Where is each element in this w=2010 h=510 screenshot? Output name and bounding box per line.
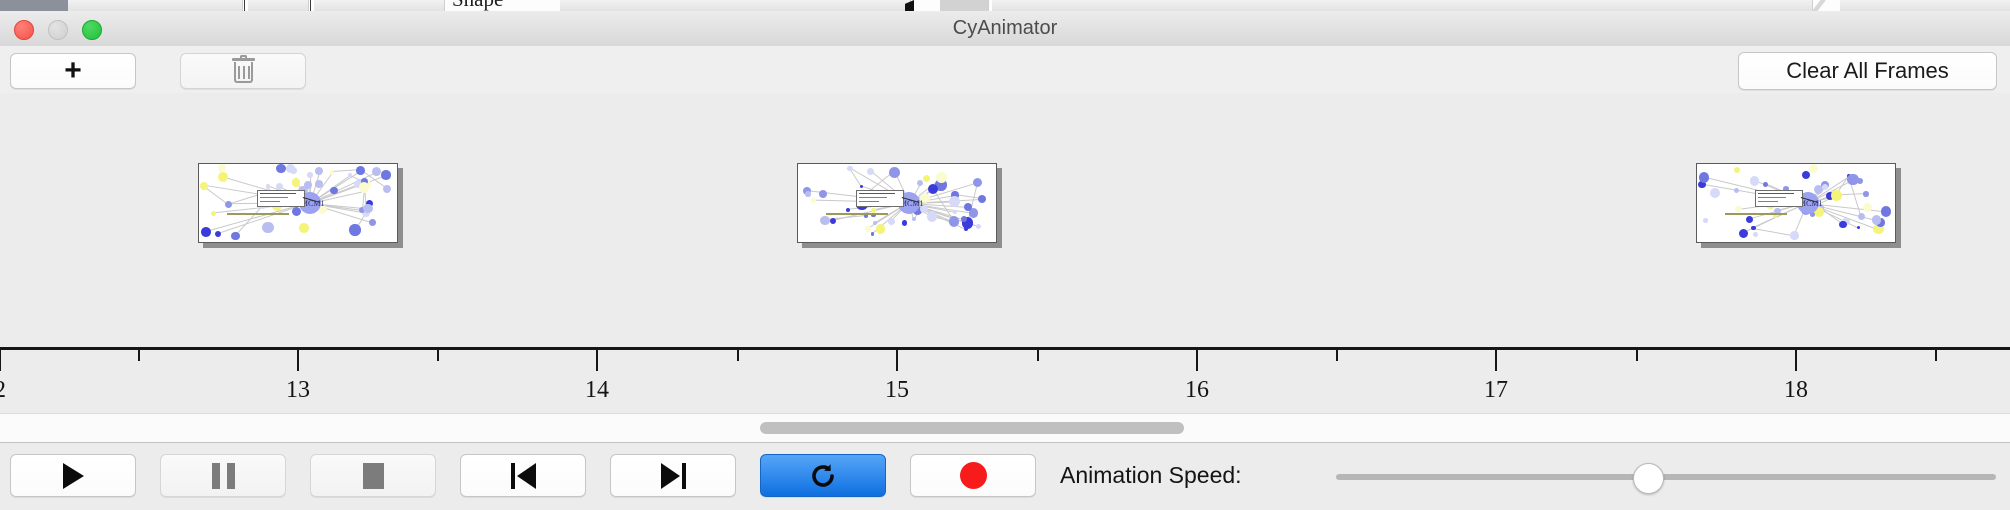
network-node [978, 195, 986, 203]
network-node [201, 227, 211, 237]
record-button[interactable] [910, 454, 1036, 497]
network-node [976, 224, 981, 229]
network-node [860, 185, 863, 188]
network-node [218, 164, 226, 172]
network-node [330, 170, 334, 174]
background-window-seg [314, 0, 445, 11]
network-node [315, 180, 323, 188]
animation-speed-label: Animation Speed: [1060, 454, 1242, 497]
network-tooltip-line [859, 201, 879, 202]
loop-button[interactable] [760, 454, 886, 497]
network-node [381, 170, 390, 179]
background-window-seg [560, 0, 911, 11]
network-node [927, 211, 938, 222]
frame-network-preview: MCM1 [1696, 163, 1896, 243]
network-node [1863, 203, 1872, 212]
background-window-seg [1840, 0, 2010, 11]
timeline-tick-label: 15 [857, 377, 937, 404]
delete-frame-button[interactable] [180, 53, 306, 89]
network-node [1746, 216, 1753, 223]
network-tooltip-line [1758, 193, 1794, 194]
background-window-label: Shape [452, 0, 503, 11]
network-node [225, 201, 232, 208]
network-node [912, 217, 917, 222]
network-tooltip-line [859, 193, 895, 194]
network-node [1734, 188, 1739, 193]
network-node [819, 190, 827, 198]
network-node [871, 232, 874, 235]
network-node [356, 166, 365, 175]
skip-back-icon [511, 463, 536, 489]
skip-forward-icon [661, 463, 686, 489]
network-node [215, 231, 221, 237]
network-node [820, 216, 829, 225]
network-node [292, 178, 301, 187]
timeline-tick-major [1495, 350, 1497, 371]
network-tooltip-line [260, 201, 280, 202]
background-window-seg [992, 0, 1813, 11]
network-node [949, 196, 960, 207]
timeline-tick-label: 14 [557, 377, 637, 404]
timeline-scrollbar-thumb[interactable] [760, 422, 1184, 434]
timeline-tick-major [0, 350, 1, 371]
timeline-tick-major [1196, 350, 1198, 371]
network-caption [1725, 213, 1787, 215]
frame-thumbnail[interactable]: MCM1 [1696, 163, 1896, 243]
network-node [200, 182, 208, 190]
network-node [889, 167, 900, 178]
next-frame-button[interactable] [610, 454, 736, 497]
network-tooltip-line [1758, 197, 1786, 198]
network-node [349, 224, 361, 236]
timeline-tick-label: 2 [0, 377, 40, 404]
network-node [383, 185, 391, 193]
timeline-tick-minor [1636, 350, 1638, 361]
timeline-scrollbar[interactable] [0, 413, 2010, 443]
animation-speed-slider[interactable] [1336, 474, 1996, 480]
timeline-tick-minor [1336, 350, 1338, 361]
title-bar[interactable]: CyAnimator [0, 11, 2010, 47]
network-caption [227, 213, 289, 215]
network-node [359, 182, 369, 192]
network-node [1857, 226, 1860, 229]
frame-network-preview: MCM1 [797, 163, 997, 243]
network-node [266, 184, 271, 189]
background-window-seg [248, 0, 309, 11]
network-node [876, 224, 886, 234]
network-node [1858, 213, 1865, 220]
timeline-tick-major [297, 350, 299, 371]
background-window-titlebar [0, 0, 68, 11]
network-node [867, 168, 874, 175]
toolbar: + Clear All Frames [0, 46, 2010, 94]
stop-button[interactable] [310, 454, 436, 497]
network-node [846, 208, 850, 212]
stop-icon [363, 463, 384, 489]
record-icon [960, 462, 987, 489]
timeline-tick-label: 18 [1756, 377, 1836, 404]
timeline-tick-minor [1935, 350, 1937, 361]
network-caption [826, 213, 888, 215]
timeline-tick-minor [138, 350, 140, 361]
timeline-tick-major [596, 350, 598, 371]
network-node [1751, 226, 1756, 231]
timeline-tick-minor [437, 350, 439, 361]
trash-icon [232, 58, 255, 84]
network-node [1872, 215, 1881, 224]
network-node [1831, 190, 1842, 201]
window-title: CyAnimator [0, 11, 2010, 46]
network-node [902, 220, 908, 226]
network-node [1809, 164, 1818, 173]
network-node [231, 232, 240, 241]
timeline-tick-minor [737, 350, 739, 361]
network-node [949, 216, 960, 227]
network-node [1881, 206, 1891, 216]
loop-icon [808, 461, 838, 491]
network-node [805, 191, 810, 196]
background-window-seg [940, 0, 989, 11]
network-node [315, 167, 323, 175]
network-tooltip-line [260, 193, 296, 194]
frame-thumbnail[interactable]: MCM1 [797, 163, 997, 243]
play-icon [63, 463, 84, 489]
background-window-strip: Shape [0, 0, 2010, 11]
network-node [307, 172, 313, 178]
network-node [1734, 167, 1740, 173]
transport-bar: Animation Speed: [0, 442, 2010, 510]
cyanimator-window: Shape CyAnimator + Clear All Frames MCM1… [0, 0, 2010, 510]
background-window-divider [310, 0, 311, 11]
timeline-panel[interactable]: MCM1MCM1MCM1 2131415161718 Seconds [0, 93, 2010, 413]
network-node [1790, 231, 1799, 240]
timeline-tick-minor [1037, 350, 1039, 361]
network-node [1703, 218, 1708, 223]
background-window-divider [244, 0, 245, 11]
network-node [1802, 171, 1810, 179]
network-node [830, 218, 836, 224]
network-node [973, 178, 982, 187]
add-frame-button[interactable]: + [10, 53, 136, 89]
timeline-tick-major [896, 350, 898, 371]
network-node [1863, 191, 1868, 196]
network-node [1699, 172, 1709, 182]
previous-frame-button[interactable] [460, 454, 586, 497]
network-node [811, 198, 816, 203]
network-node [211, 211, 216, 216]
timeline-tick-label: 13 [258, 377, 338, 404]
animation-speed-slider-thumb[interactable] [1633, 463, 1664, 494]
network-node [936, 172, 947, 183]
background-window-seg [190, 0, 243, 11]
timeline-tick-major [1795, 350, 1797, 371]
pause-icon [212, 463, 235, 489]
network-node [1735, 206, 1741, 212]
play-button[interactable] [10, 454, 136, 497]
timeline-axis-line [0, 347, 2010, 350]
network-node [276, 164, 286, 174]
network-tooltip-line [859, 197, 887, 198]
background-window-marker [1812, 0, 1826, 11]
network-node [1753, 232, 1758, 237]
background-window-seg [68, 0, 191, 11]
plus-icon: + [64, 56, 82, 86]
network-node [363, 204, 373, 214]
frame-thumbnail[interactable]: MCM1 [198, 163, 398, 243]
network-tooltip-line [1758, 201, 1778, 202]
network-node [218, 172, 228, 182]
network-node [923, 175, 930, 182]
network-node [299, 223, 309, 233]
network-node [1839, 221, 1846, 228]
network-node [917, 180, 923, 186]
network-node [330, 187, 337, 194]
network-node [1750, 176, 1759, 185]
network-node [888, 218, 895, 225]
network-node [262, 222, 273, 233]
network-node [865, 226, 871, 232]
pause-button[interactable] [160, 454, 286, 497]
network-node [1739, 229, 1748, 238]
network-node [928, 184, 938, 194]
frame-network-preview: MCM1 [198, 163, 398, 243]
network-node [372, 167, 381, 176]
network-node [871, 208, 876, 213]
network-node [1847, 174, 1858, 185]
network-node [369, 219, 376, 226]
network-node [847, 166, 853, 172]
timeline-tick-label: 17 [1456, 377, 1536, 404]
timeline-tick-label: 16 [1157, 377, 1237, 404]
network-edge [1753, 228, 1794, 236]
clear-all-frames-button[interactable]: Clear All Frames [1738, 52, 1997, 90]
network-node [1710, 188, 1720, 198]
network-tooltip-line [260, 197, 288, 198]
network-node [953, 210, 957, 214]
